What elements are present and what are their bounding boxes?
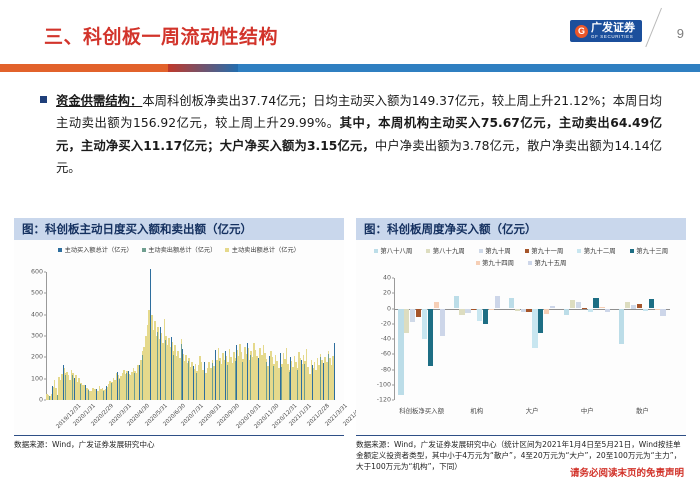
chart-right-body: 第八十八周第八十九周第九十周第九十一周第九十二周第九十三周第九十四周第九十五周 … [356,240,686,436]
chart-right-bar-groups [394,278,670,400]
legend-swatch-icon [426,249,430,253]
disclaimer-text: 请务必阅读末页的免责声明 [570,465,684,479]
legend-item-right-5: 第九十三周 [630,246,668,255]
bar-group [449,278,504,400]
legend-label: 第九十周 [485,246,511,255]
bar-week [526,309,531,312]
y-tick-label: 200 [31,354,43,361]
legend-swatch-icon [476,261,480,265]
bar-week [564,309,569,315]
bullet-square-icon [40,96,47,103]
legend-swatch-icon [577,249,581,253]
legend-label: 第九十三周 [636,246,668,255]
chart-left-title: 图：科创板主动日度买入额和卖出额（亿元） [14,218,344,240]
bar-week [428,309,433,367]
bar-segment-buy [96,389,97,400]
bar-group [504,278,559,400]
bar-week [637,304,642,309]
brand-logo: G 广发证券 GF SECURITIES [570,20,642,42]
legend-label: 主动买入额总计（亿元） [65,245,133,254]
x-category-label: 机构 [449,406,504,415]
bar-segment-buy [63,365,64,400]
y-tick-label: 20 [383,290,391,297]
y-tick-label: -80 [381,366,391,373]
bar-day [334,272,336,400]
bar-segment-buy [160,327,161,400]
bar-week [660,309,665,317]
legend-label: 第九十一周 [531,246,563,255]
bar-week [655,309,660,311]
bar-week [532,309,537,349]
bar-week [440,309,445,336]
legend-item-right-2: 第九十周 [479,246,511,255]
legend-item-left-2: 主动卖出额总计（亿元） [225,245,300,254]
bar-segment-buy [182,349,183,400]
legend-swatch-icon [225,248,229,252]
bar-segment-buy [150,269,151,400]
bar-week [582,308,587,309]
bar-week [404,309,409,333]
bar-week [631,305,636,309]
logo-text-en: GF SECURITIES [591,35,635,40]
legend-label: 主动卖出额总计（亿元） [148,245,216,254]
bar-week [495,296,500,308]
bar-segment-buy [258,358,259,400]
bar-week [459,309,464,315]
bar-segment-buy [128,371,129,400]
bar-segment-buy [74,378,75,400]
bar-segment-buy [247,343,248,400]
chart-panel-right: 图：科创板周度净买入额（亿元） 第八十八周第八十九周第九十周第九十一周第九十二周… [356,218,686,470]
bar-week [588,309,593,313]
bar-week [605,309,610,312]
chart-left-x-labels: 2019/12/312020/1/312020/2/292020/3/31202… [46,403,334,437]
bar-week [544,309,549,314]
bar-week [398,309,403,396]
y-tick-label: 300 [31,333,43,340]
legend-item-left-1: 主动卖出额总计（亿元） [142,245,217,254]
y-tick-label: 500 [31,290,43,297]
chart-panel-left: 图：科创板主动日度买入额和卖出额（亿元） 主动买入额总计（亿元）主动卖出额总计（… [14,218,344,470]
bar-segment-buy [290,357,291,400]
y-tick-label: 40 [383,275,391,282]
bar-segment-buy [171,337,172,400]
bar-week [489,309,494,311]
legend-label: 第九十四周 [482,258,514,267]
bar-segment-buy [139,365,140,400]
bar-week [521,309,526,312]
bar-segment-buy [204,362,205,400]
slide-header: 三、科创板一周流动性结构 G 广发证券 GF SECURITIES 9 [0,0,700,72]
chart-right-legend: 第八十八周第八十九周第九十周第九十一周第九十二周第九十三周第九十四周第九十五周 [356,240,686,267]
y-tick-label: 400 [31,311,43,318]
x-category-label: 科创板净买入额 [394,406,449,415]
bar-week [454,296,459,308]
chart-right-plot: 40200-20-40-60-80-100-120 [394,278,670,400]
legend-label: 第八十八周 [380,246,412,255]
bar-segment-buy [85,385,86,400]
bar-segment-buy [215,350,216,400]
chart-left-footnote: 数据来源：Wind，广发证券发展研究中心 [14,436,344,451]
bar-week [570,300,575,308]
bar-week [643,309,648,311]
legend-item-right-6: 第九十四周 [476,258,514,267]
bar-group [615,278,670,400]
page-title: 三、科创板一周流动性结构 [44,22,278,49]
header-rule-band [0,64,700,72]
y-tick-label: -20 [381,320,391,327]
legend-item-right-0: 第八十八周 [374,246,412,255]
legend-item-right-7: 第九十五周 [528,258,566,267]
bar-week [416,309,421,317]
bar-week [619,309,624,344]
summary-paragraph: 资金供需结构：本周科创板净卖出37.74亿元；日均主动买入额为149.37亿元，… [56,90,662,180]
bar-week [538,309,543,333]
bar-week [471,309,476,310]
bar-week [477,309,482,321]
legend-item-left-0: 主动买入额总计（亿元） [58,245,133,254]
y-tick-label: 0 [39,397,43,404]
x-category-label: 中户 [560,406,615,415]
bar-segment-buy [106,386,107,400]
legend-swatch-icon [58,248,62,252]
bar-week [434,302,439,309]
legend-swatch-icon [479,249,483,253]
bar-week [649,299,654,309]
x-category-label: 大户 [504,406,559,415]
y-tick-label: 100 [31,375,43,382]
bar-segment-buy [193,366,194,400]
y-tick-label: 0 [387,305,391,312]
summary-block: 资金供需结构：本周科创板净卖出37.74亿元；日均主动买入额为149.37亿元，… [40,90,662,180]
legend-swatch-icon [630,249,634,253]
bar-week [422,309,427,340]
legend-swatch-icon [374,249,378,253]
chart-left-plot: 0100200300400500600 [46,272,334,400]
bar-group [394,278,449,400]
legend-item-right-1: 第八十九周 [426,246,464,255]
legend-swatch-icon [142,248,146,252]
legend-item-right-3: 第九十一周 [525,246,563,255]
bar-segment-buy [334,343,335,400]
bar-segment-buy [323,363,324,400]
divider-slash [645,8,662,47]
logo-mark-icon: G [575,25,588,38]
y-tick-label: -100 [377,381,391,388]
bar-week [483,309,488,324]
legend-label: 主动卖出额总计（亿元） [232,245,300,254]
bar-segment-buy [117,372,118,400]
bar-week [509,298,514,309]
bar-week [550,306,555,308]
summary-lead-label: 资金供需结构： [56,94,142,108]
legend-label: 第九十五周 [535,258,567,267]
legend-item-right-4: 第九十二周 [577,246,615,255]
legend-label: 第八十九周 [433,246,465,255]
chart-right-x-labels: 科创板净买入额机构大户中户散户 [394,406,670,415]
bar-segment-buy [280,353,281,400]
y-tick-label: -60 [381,351,391,358]
legend-swatch-icon [525,249,529,253]
page-number: 9 [677,26,684,41]
chart-right-title: 图：科创板周度净买入额（亿元） [356,218,686,240]
bar-week [576,302,581,309]
bar-group [560,278,615,400]
bar-week [625,302,630,308]
bar-segment-buy [52,386,53,400]
y-tick-label: 600 [31,269,43,276]
x-category-label: 散户 [615,406,670,415]
legend-label: 第九十二周 [584,246,616,255]
legend-swatch-icon [528,261,532,265]
bar-week [465,309,470,314]
bar-week [410,309,415,323]
bar-week [515,309,520,311]
bar-segment-buy [236,345,237,400]
bar-week [593,298,598,309]
bar-segment-buy [312,365,313,400]
chart-left-bars [46,272,334,400]
bar-segment-buy [269,356,270,400]
bar-segment-buy [225,351,226,400]
y-tick-label: -120 [377,397,391,404]
logo-text-cn: 广发证券 [591,23,635,35]
bar-segment-buy [301,360,302,400]
chart-left-body: 主动买入额总计（亿元）主动卖出额总计（亿元）主动卖出额总计（亿元） 010020… [14,240,344,436]
chart-left-legend: 主动买入额总计（亿元）主动卖出额总计（亿元）主动卖出额总计（亿元） [14,240,344,254]
y-tick-label: -40 [381,336,391,343]
bar-week [599,307,604,309]
